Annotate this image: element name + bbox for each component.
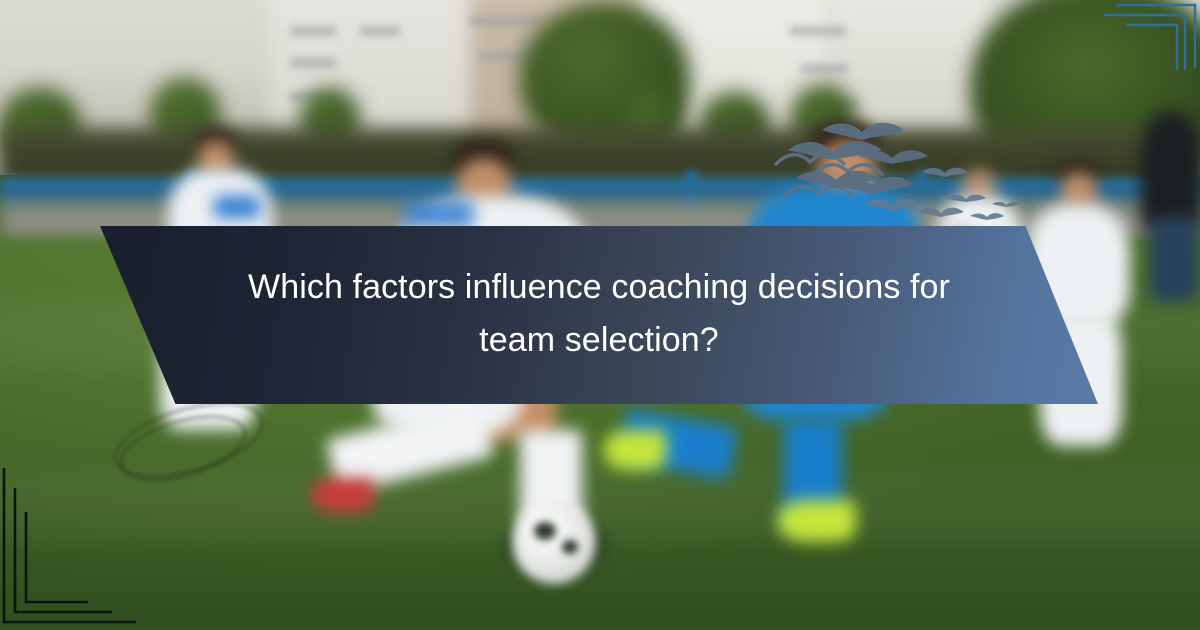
- player-shirt-stripe: [404, 200, 474, 228]
- player-shirt-stripe: [214, 196, 260, 218]
- poster-canvas: Which factors influence coaching decisio…: [0, 0, 1200, 630]
- window-row: [290, 26, 336, 36]
- soccer-ball: [512, 500, 596, 584]
- window-row: [800, 64, 848, 73]
- window-row: [790, 26, 846, 36]
- window-row: [290, 58, 336, 68]
- player-boot-neon: [604, 430, 666, 470]
- grass-mow-band: [0, 470, 1200, 540]
- ball-marking: [534, 522, 556, 540]
- player-boot-neon: [778, 500, 856, 542]
- spectator-legs: [1150, 218, 1198, 302]
- headline-text: Which factors influence coaching decisio…: [219, 261, 979, 366]
- spectator: [1140, 112, 1200, 232]
- window-row: [360, 26, 400, 36]
- window-row: [470, 16, 540, 26]
- ball-marking: [562, 540, 578, 554]
- headline-banner: Which factors influence coaching decisio…: [96, 226, 1102, 404]
- player-boot: [312, 478, 374, 512]
